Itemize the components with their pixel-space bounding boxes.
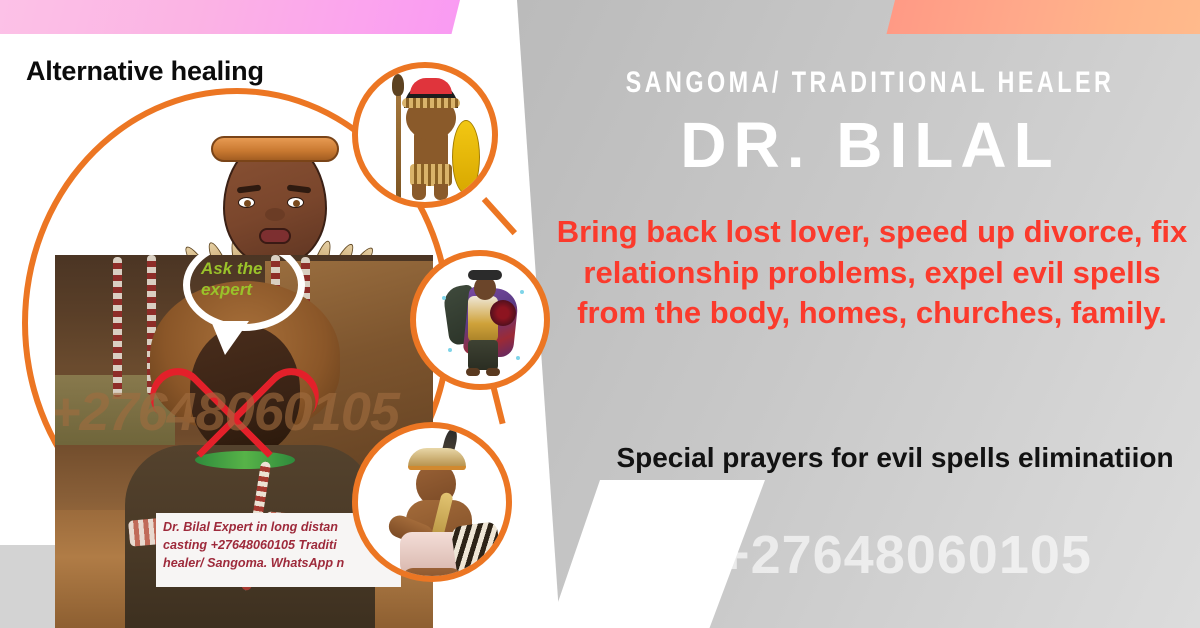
circle-robed-diviner [410,250,550,390]
left-composition: Alternative healing [0,0,560,628]
circle-crouching-warrior [352,422,512,582]
poster-canvas: Alternative healing [0,0,1200,628]
right-text-column: SANGOMA/ TRADITIONAL HEALER DR. BILAL Br… [540,0,1200,628]
doctor-name-heading: DR. BILAL [540,108,1200,182]
healer-photograph: Ask the expert +27648060105 Dr. Bilal Ex… [55,255,433,628]
phone-number-watermark: +27648060105 [610,524,1200,586]
circle-zulu-warrior [352,62,498,208]
page-title: Alternative healing [26,56,264,87]
kicker-headline: SANGOMA/ TRADITIONAL HEALER [613,66,1128,100]
photo-phone-watermark: +27648060105 [55,381,433,443]
services-description: Bring back lost lover, speed up divorce,… [552,212,1192,334]
speech-bubble-tail [211,321,249,355]
connector-line-1 [482,197,517,235]
speech-bubble-label: Ask the expert [201,259,301,300]
special-prayers-text: Special prayers for evil spells eliminat… [600,440,1190,476]
